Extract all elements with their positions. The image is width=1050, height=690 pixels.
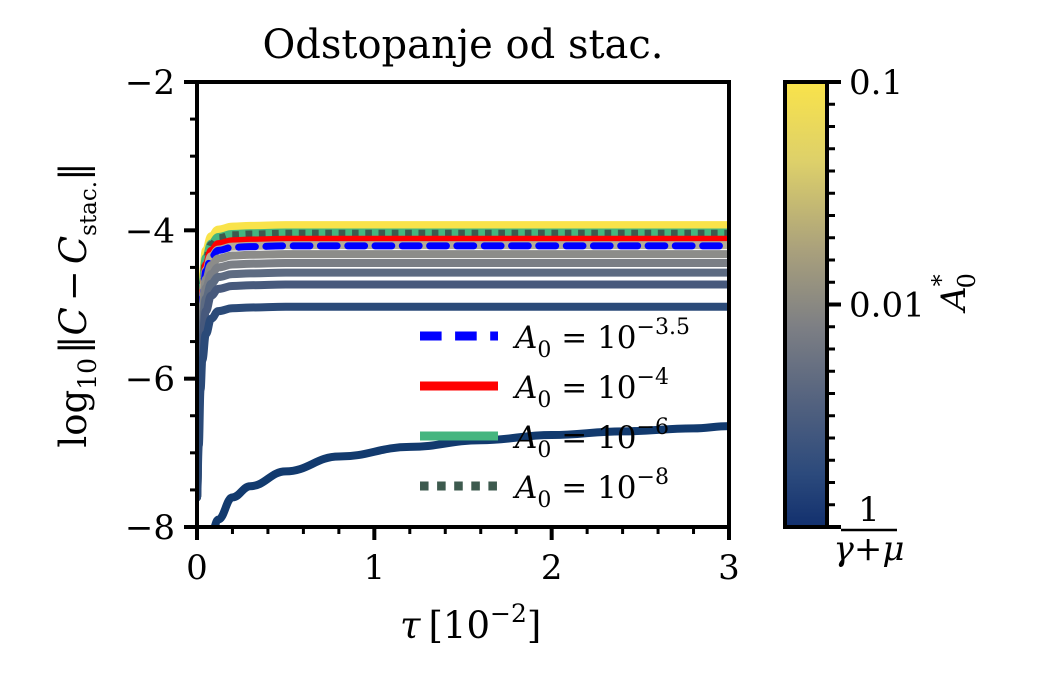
y-axis-log: log: [52, 390, 95, 448]
legend-exponent: −6: [637, 415, 669, 440]
y-axis-norm-open: ‖: [52, 335, 95, 354]
x-axis-exponent: −2: [490, 599, 527, 628]
legend-A-symbol: A: [512, 470, 537, 506]
figure-root: Odstopanje od stac. 0123 −2−4−6−8 τ[10−2…: [0, 0, 1050, 690]
colorbar-gradient: [785, 82, 827, 527]
y-tick-label: −2: [125, 63, 175, 103]
legend-exponent: −8: [637, 465, 669, 490]
legend-equals-ten: = 10: [551, 320, 636, 356]
colorbar-tick-label: 0.01: [849, 286, 925, 326]
colorbar-label-zero: 0: [953, 273, 981, 288]
y-tick-label: −6: [125, 360, 175, 400]
y-axis-C2: C: [52, 236, 95, 264]
legend-A-subscript: 0: [537, 388, 551, 413]
legend-A-subscript: 0: [537, 438, 551, 463]
y-axis-C2-subscript: stac.: [76, 181, 102, 236]
x-tick-label: 3: [718, 548, 740, 588]
legend-A-subscript: 0: [537, 488, 551, 513]
scientific-plot: Odstopanje od stac. 0123 −2−4−6−8 τ[10−2…: [0, 0, 1050, 690]
y-axis-norm-close: ‖: [52, 162, 95, 181]
legend-exponent: −3.5: [637, 315, 690, 340]
legend-equals-ten: = 10: [551, 470, 636, 506]
legend-A-subscript: 0: [537, 338, 551, 363]
y-tick-label: −8: [125, 508, 175, 548]
x-tick-label: 2: [541, 548, 563, 588]
x-axis-bracket-close: ]: [527, 604, 541, 647]
legend-A-symbol: A: [512, 320, 537, 356]
x-tick-label: 1: [364, 548, 386, 588]
legend-A-symbol: A: [512, 420, 537, 456]
legend-equals-ten: = 10: [551, 420, 636, 456]
legend-A-symbol: A: [512, 370, 537, 406]
y-tick-label: −4: [125, 211, 175, 251]
colorbar-axis-label: A*0: [927, 273, 981, 314]
y-axis-C1: C: [52, 307, 95, 335]
colorbar-label-A: A: [934, 286, 974, 314]
legend-equals-ten: = 10: [551, 370, 636, 406]
x-axis-tau-symbol: τ: [400, 604, 421, 647]
y-axis-log-subscript: 10: [73, 358, 102, 390]
colorbar-fraction-numerator: 1: [858, 490, 880, 530]
colorbar-fraction-denominator: γ+μ: [834, 529, 905, 569]
x-tick-label: 0: [186, 548, 208, 588]
page-title: Odstopanje od stac.: [262, 22, 663, 68]
colorbar-label-star: *: [927, 274, 955, 286]
y-axis-minus: −: [52, 270, 95, 301]
x-axis-bracket-open: [10: [428, 604, 490, 647]
legend-exponent: −4: [637, 365, 669, 390]
colorbar-tick-label: 0.1: [849, 63, 903, 103]
svg-text:A*0: A*0: [927, 273, 981, 314]
